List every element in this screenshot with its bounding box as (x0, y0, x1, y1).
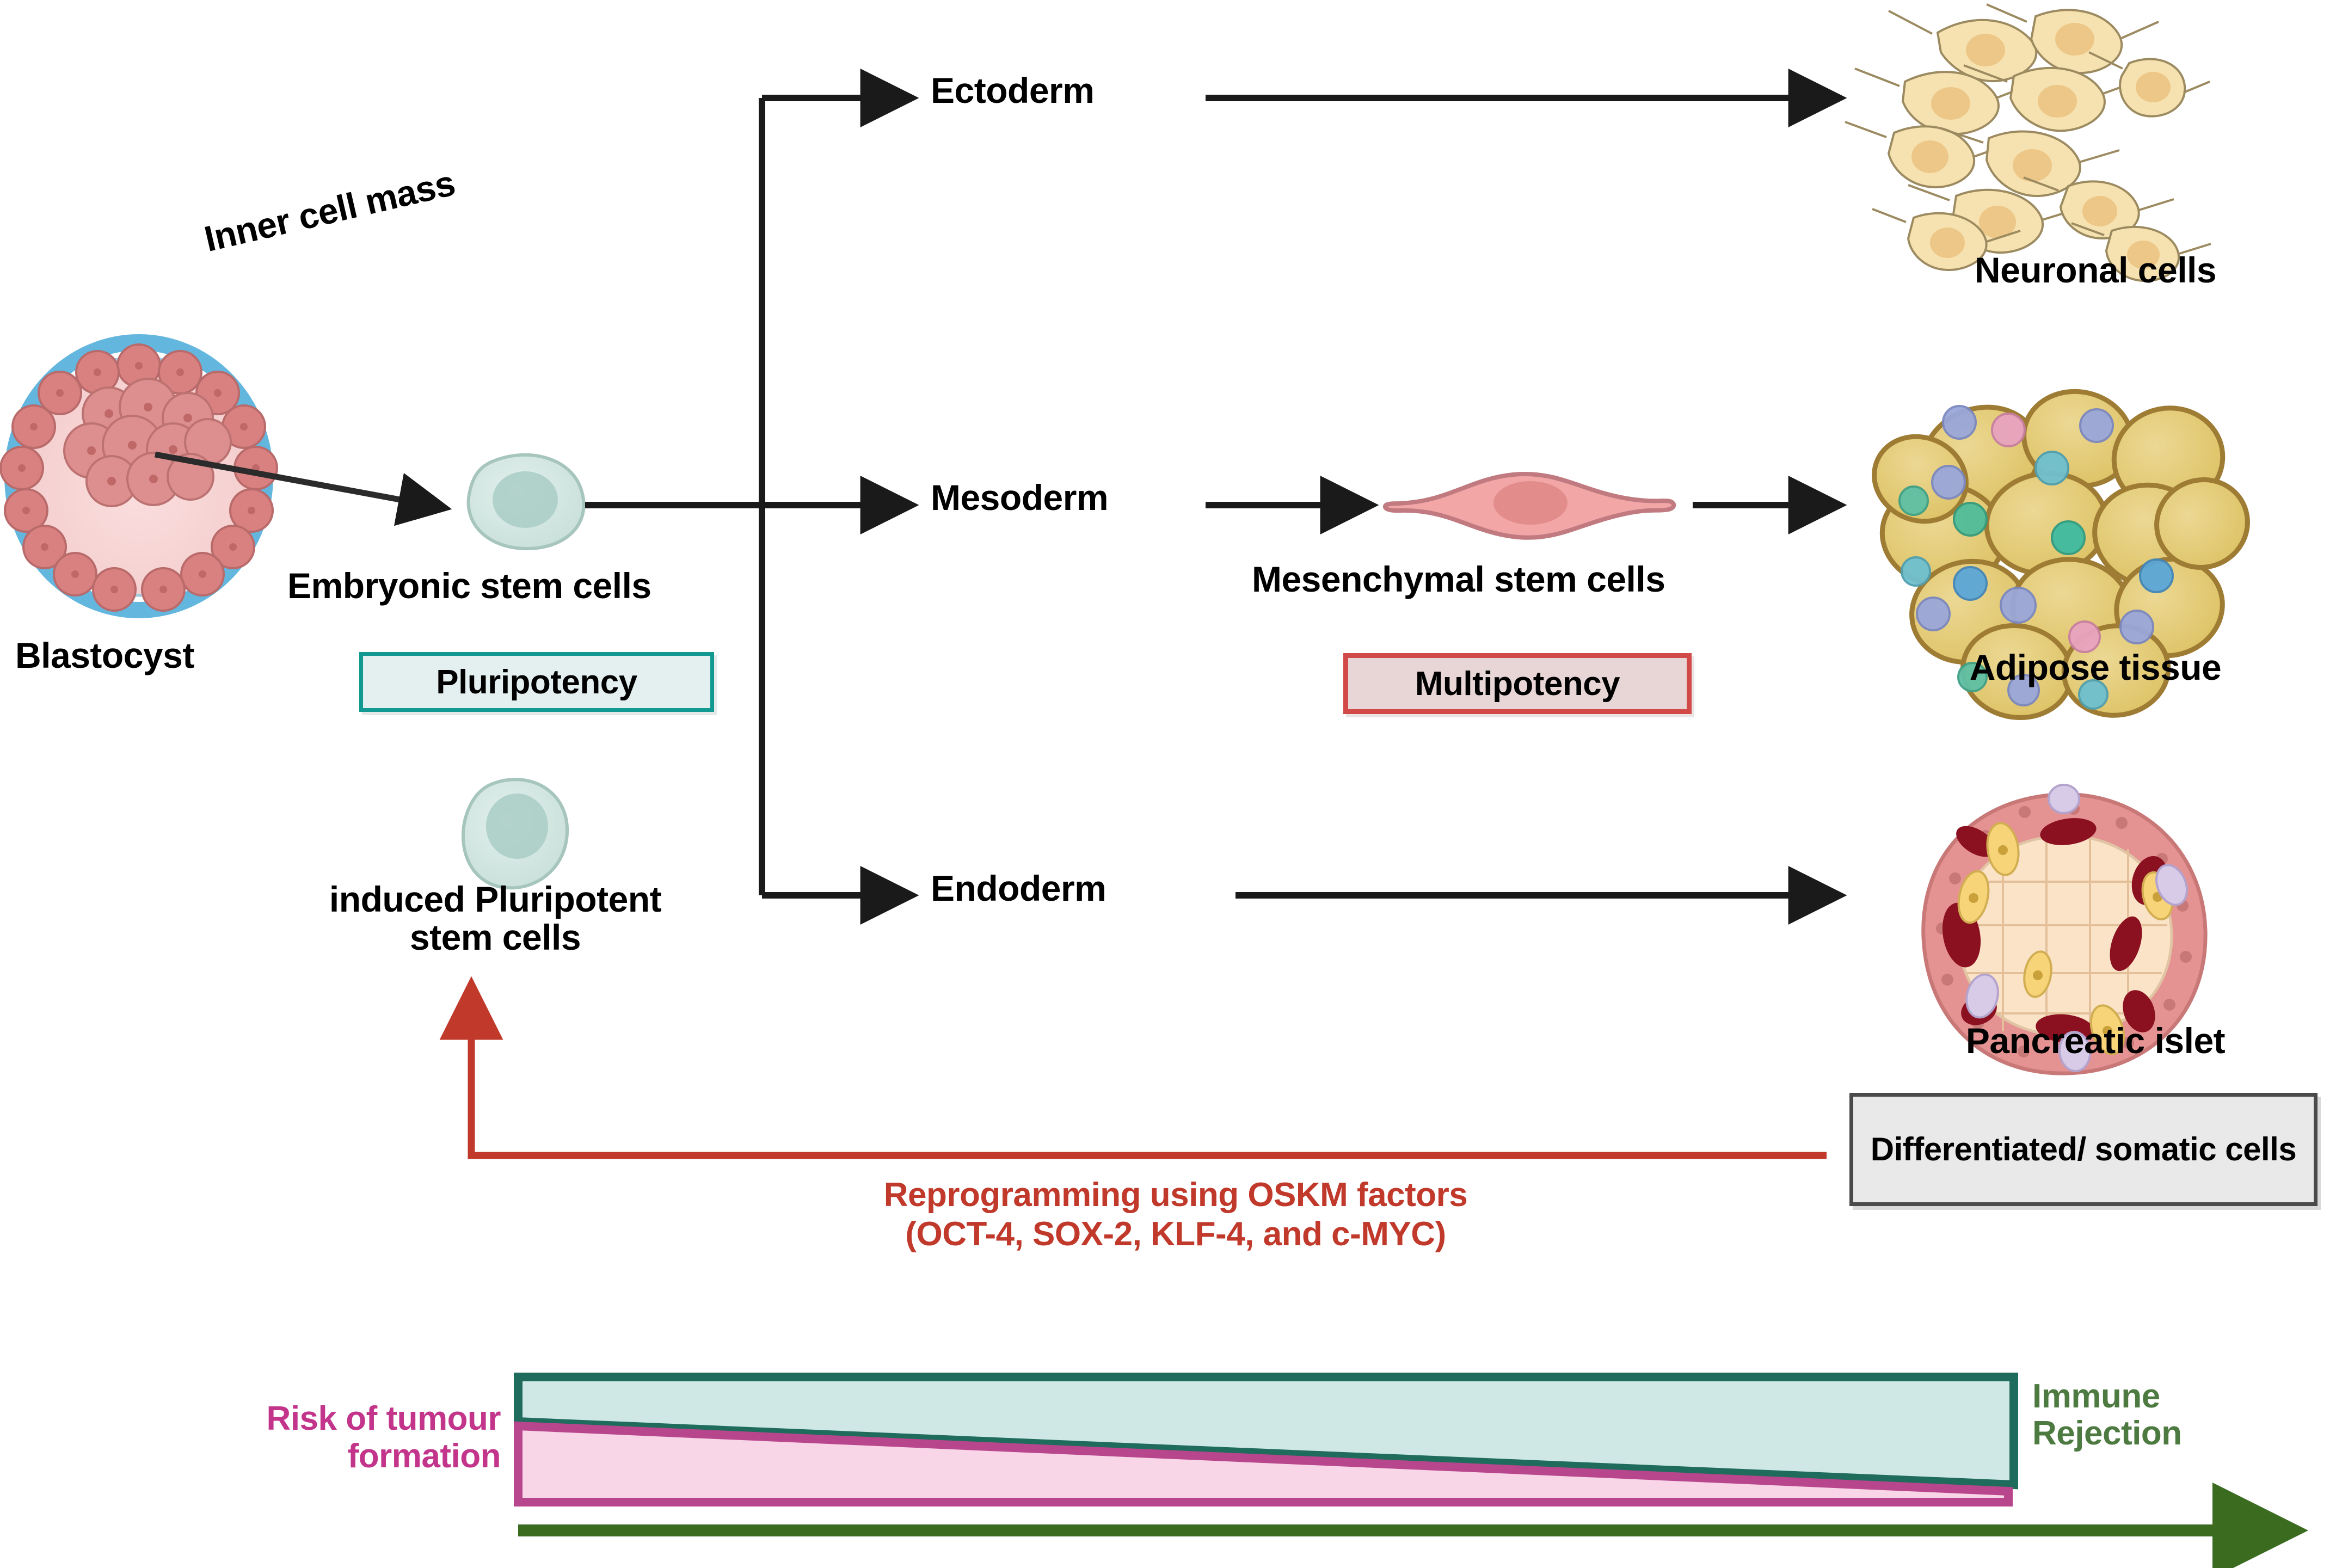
adipose-tissue-label: Adipose tissue (1851, 649, 2340, 687)
diagram-artwork-layer (0, 0, 2342, 1568)
pluripotency-badge-label: Pluripotency (436, 663, 637, 702)
inner-cell-mass-label: Inner cell mass (201, 145, 538, 259)
somatic-cells-label: Differentiated/ somatic cells (1871, 1132, 2296, 1167)
multipotency-badge-label: Multipotency (1415, 665, 1620, 703)
neuronal-cells-label: Neuronal cells (1851, 251, 2340, 290)
blastocyst-illustration (1, 342, 277, 611)
diagram-canvas: Inner cell mass Blastocyst Embryonic ste… (0, 0, 2342, 1568)
embryonic-stem-cell-illustration (469, 455, 584, 549)
somatic-cells-box[interactable]: Differentiated/ somatic cells (1849, 1093, 2318, 1206)
mesenchymal-stem-cell-illustration (1385, 474, 1674, 538)
germ-layer-mesoderm-label: Mesoderm (931, 479, 1214, 517)
blastocyst-label: Blastocyst (15, 637, 266, 675)
pluripotency-badge[interactable]: Pluripotency (359, 652, 714, 712)
mesenchymal-stem-cells-label: Mesenchymal stem cells (1252, 561, 1829, 599)
germ-layer-endoderm-label: Endoderm (931, 870, 1214, 908)
pancreatic-islet-label: Pancreatic islet (1851, 1022, 2340, 1060)
immune-rejection-label: Immune Rejection (2032, 1378, 2337, 1452)
inner-cell-mass-arrow (155, 454, 435, 506)
reprogramming-path (471, 996, 1827, 1155)
potency-gradient-bands (518, 1377, 2272, 1530)
multipotency-badge[interactable]: Multipotency (1343, 653, 1692, 714)
neuronal-cells-illustration (1845, 4, 2211, 281)
ipsc-label: induced Pluripotent stem cells (267, 881, 724, 957)
risk-of-tumour-label: Risk of tumour formation (98, 1400, 501, 1475)
germ-layer-ectoderm-label: Ectoderm (931, 72, 1214, 110)
reprogramming-caption: Reprogramming using OSKM factors (OCT-4,… (724, 1176, 1627, 1254)
ipsc-illustration (463, 779, 567, 888)
embryonic-stem-cells-label: Embryonic stem cells (287, 567, 766, 605)
